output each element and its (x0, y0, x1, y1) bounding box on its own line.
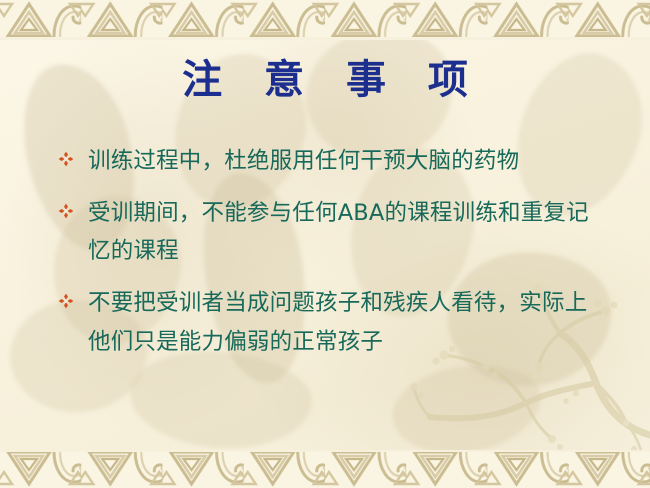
list-item[interactable]: 受训期间，不能参与任何ABA的课程训练和重复记忆的课程 (58, 194, 610, 271)
list-item-label: 训练过程中，杜绝服用任何干预大脑的药物 (88, 142, 610, 181)
presentation-slide: 注 意 事 项 训练过程中，杜绝服用任何干预大脑的药物 (0, 0, 650, 488)
top-decorative-border (0, 0, 650, 40)
list-item[interactable]: 训练过程中，杜绝服用任何干预大脑的药物 (58, 142, 610, 181)
diamond-bullet-icon (58, 194, 88, 219)
bullet-list: 训练过程中，杜绝服用任何干预大脑的药物 受训期间，不能参与任何ABA的课程训练和… (58, 142, 610, 374)
diamond-bullet-icon (58, 142, 88, 167)
diamond-bullet-icon (58, 284, 88, 309)
slide-title: 注 意 事 项 (0, 58, 650, 103)
list-item-label: 不要把受训者当成问题孩子和残疾人看待，实际上他们只是能力偏弱的正常孩子 (88, 284, 610, 361)
bottom-decorative-border (0, 450, 650, 488)
list-item[interactable]: 不要把受训者当成问题孩子和残疾人看待，实际上他们只是能力偏弱的正常孩子 (58, 284, 610, 361)
list-item-label: 受训期间，不能参与任何ABA的课程训练和重复记忆的课程 (88, 194, 610, 271)
